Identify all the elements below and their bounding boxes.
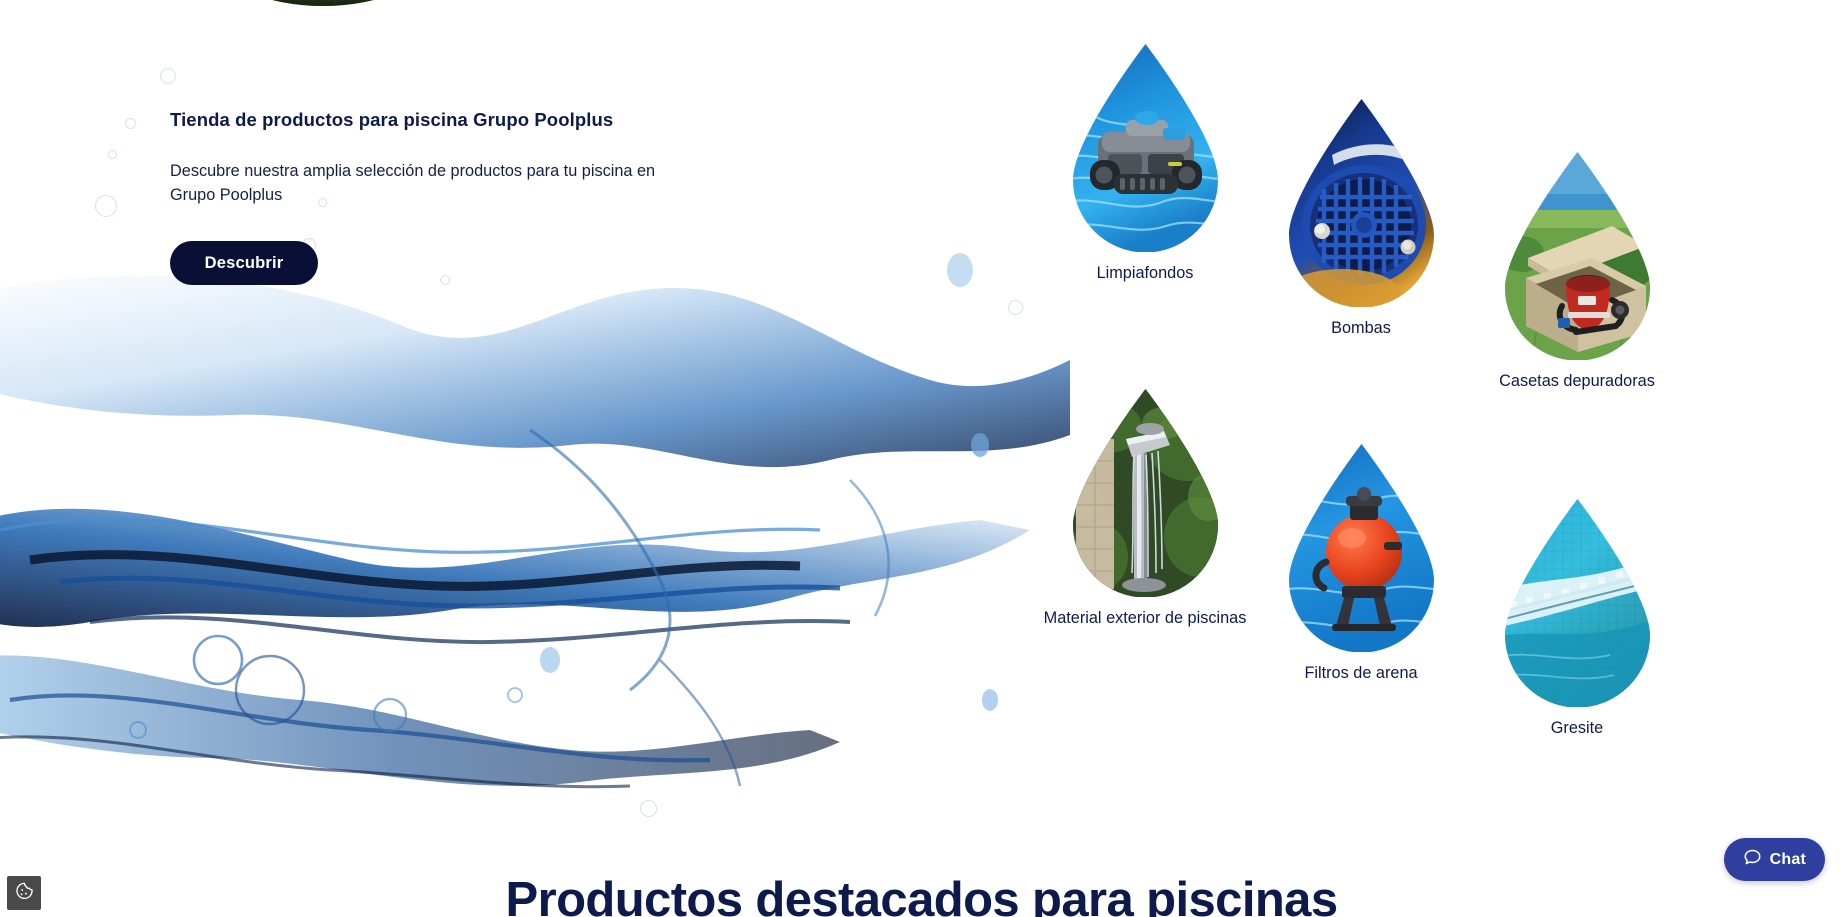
chat-widget-button[interactable]: Chat [1724, 838, 1825, 881]
decorative-bubble [640, 800, 657, 817]
decorative-bubble [160, 68, 176, 84]
category-image-filtros-de-arena[interactable] [1284, 442, 1439, 652]
category-image-bombas[interactable] [1284, 97, 1439, 307]
category-label: Casetas depuradoras [1462, 371, 1692, 393]
category-label: Material exterior de piscinas [1030, 608, 1260, 630]
decorative-bubble [108, 150, 117, 159]
category-card-limpiafondos[interactable]: Limpiafondos [1030, 42, 1260, 285]
category-card-gresite[interactable]: Gresite [1462, 497, 1692, 740]
section-heading: Productos destacados para piscinas [0, 872, 1843, 917]
category-label: Gresite [1462, 718, 1692, 740]
category-grid: Limpiafondos [1030, 42, 1830, 772]
category-card-filtros-de-arena[interactable]: Filtros de arena [1246, 442, 1476, 685]
page-root: Tienda de productos para piscina Grupo P… [0, 0, 1843, 917]
hero-title: Tienda de productos para piscina Grupo P… [170, 108, 730, 133]
cookie-icon [14, 881, 35, 905]
hero-subtitle: Descubre nuestra amplia selección de pro… [170, 160, 690, 207]
chat-label: Chat [1770, 851, 1806, 869]
category-image-casetas-depuradoras[interactable] [1500, 150, 1655, 360]
category-card-material-exterior[interactable]: Material exterior de piscinas [1030, 387, 1260, 630]
hero-text-block: Tienda de productos para piscina Grupo P… [170, 108, 730, 285]
water-splash-background [0, 230, 1070, 820]
category-label: Limpiafondos [1030, 263, 1260, 285]
category-label: Filtros de arena [1246, 663, 1476, 685]
category-image-limpiafondos[interactable] [1068, 42, 1223, 252]
cookie-settings-button[interactable] [7, 876, 41, 910]
category-card-bombas[interactable]: Bombas [1246, 97, 1476, 340]
decorative-bubble [1008, 300, 1023, 315]
category-card-casetas-depuradoras[interactable]: Casetas depuradoras [1462, 150, 1692, 393]
category-image-material-exterior[interactable] [1068, 387, 1223, 597]
descubrir-button[interactable]: Descubrir [170, 241, 318, 285]
category-image-gresite[interactable] [1500, 497, 1655, 707]
decorative-bubble [95, 195, 117, 217]
category-label: Bombas [1246, 318, 1476, 340]
decorative-bubble [125, 118, 136, 129]
chat-bubble-icon [1743, 848, 1762, 872]
top-cropped-photo [218, 0, 428, 6]
